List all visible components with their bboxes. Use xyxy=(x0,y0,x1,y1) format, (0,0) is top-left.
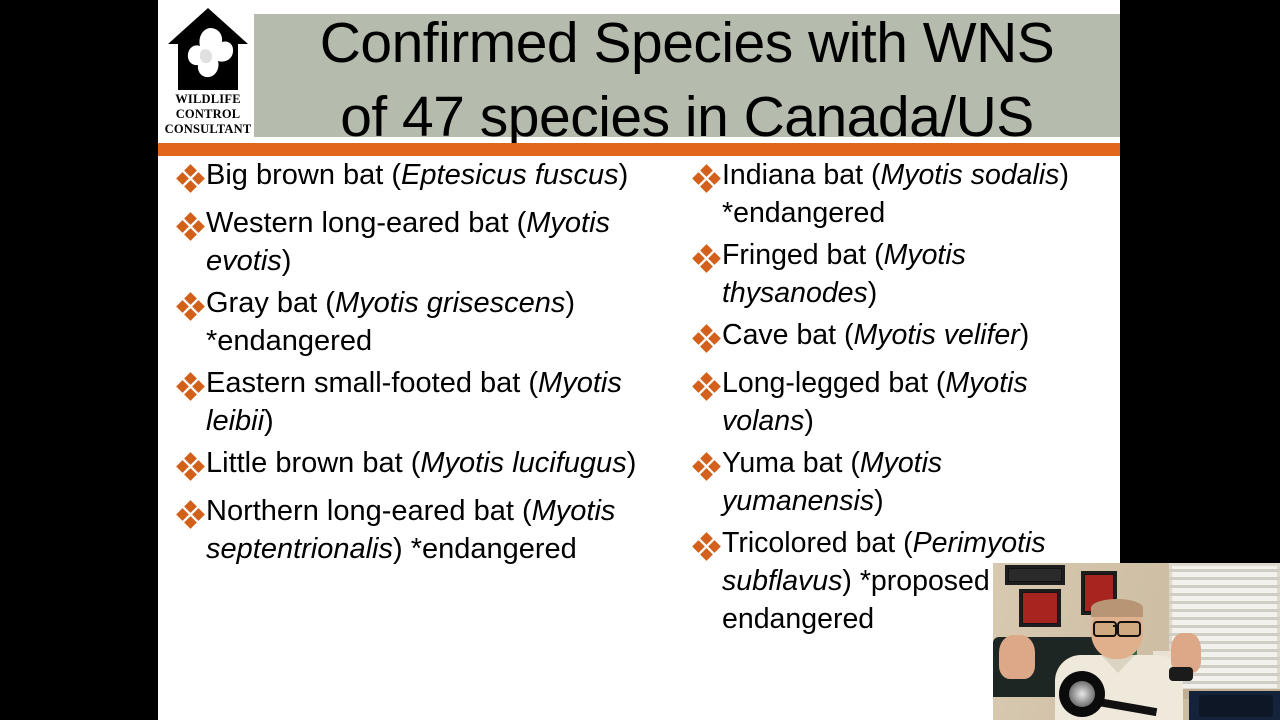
webcam-presenter-glasses xyxy=(1093,621,1117,637)
diamond-bullet-icon xyxy=(692,246,722,280)
slide-header: Confirmed Species with WNS of 47 species… xyxy=(158,0,1120,143)
letterbox-left xyxy=(0,0,158,720)
webcam-microphone-grille xyxy=(1069,681,1095,707)
species-entry: Western long-eared bat (Myotis evotis) xyxy=(206,204,660,280)
page-title: Confirmed Species with WNS of 47 species… xyxy=(254,6,1120,154)
webcam-equipment xyxy=(1199,695,1273,717)
slide-body: Big brown bat (Eptesicus fuscus) Western… xyxy=(158,156,1120,720)
diamond-bullet-icon xyxy=(692,534,722,568)
diamond-bullet-icon xyxy=(692,374,722,408)
presenter-webcam-overlay[interactable] xyxy=(993,563,1280,720)
list-item: Fringed bat (Myotis thysanodes) xyxy=(692,236,1104,312)
list-item: Northern long-eared bat (Myotis septentr… xyxy=(176,492,660,568)
presentation-stage: Confirmed Species with WNS of 47 species… xyxy=(0,0,1280,720)
webcam-presenter-hair xyxy=(1091,599,1143,617)
webcam-framed-picture xyxy=(1005,565,1065,585)
webcam-presenter-glasses xyxy=(1117,621,1141,637)
species-entry: Northern long-eared bat (Myotis septentr… xyxy=(206,492,660,568)
diamond-bullet-icon xyxy=(176,502,206,536)
list-item: Eastern small-footed bat (Myotis leibii) xyxy=(176,364,660,440)
species-entry: Fringed bat (Myotis thysanodes) xyxy=(722,236,1104,312)
species-entry: Eastern small-footed bat (Myotis leibii) xyxy=(206,364,660,440)
webcam-presenter-hand-left xyxy=(999,635,1035,679)
species-entry: Indiana bat (Myotis sodalis) *endangered xyxy=(722,156,1104,232)
diamond-bullet-icon xyxy=(692,454,722,488)
list-item: Long-legged bat (Myotis volans) xyxy=(692,364,1104,440)
species-entry: Little brown bat (Myotis lucifugus) xyxy=(206,444,660,482)
list-item: Cave bat (Myotis velifer) xyxy=(692,316,1104,360)
wildlife-control-consultant-logo: WILDLIFE CONTROL CONSULTANT xyxy=(162,4,254,143)
diamond-bullet-icon xyxy=(176,374,206,408)
list-item: Western long-eared bat (Myotis evotis) xyxy=(176,204,660,280)
diamond-bullet-icon xyxy=(692,166,722,200)
species-list-left: Big brown bat (Eptesicus fuscus) Western… xyxy=(176,156,660,572)
list-item: Yuma bat (Myotis yumanensis) xyxy=(692,444,1104,520)
slide-canvas: Confirmed Species with WNS of 47 species… xyxy=(158,0,1120,720)
webcam-presenter-watch xyxy=(1169,667,1193,681)
list-item: Big brown bat (Eptesicus fuscus) xyxy=(176,156,660,200)
webcam-framed-picture xyxy=(1019,589,1061,627)
species-entry: Gray bat (Myotis grisescens) *endangered xyxy=(206,284,660,360)
diamond-bullet-icon xyxy=(176,214,206,248)
diamond-bullet-icon xyxy=(692,326,722,360)
webcam-glasses-bridge xyxy=(1113,625,1119,627)
list-item: Gray bat (Myotis grisescens) *endangered xyxy=(176,284,660,360)
diamond-bullet-icon xyxy=(176,294,206,328)
logo-text: WILDLIFE CONTROL CONSULTANT xyxy=(162,92,254,137)
species-entry: Long-legged bat (Myotis volans) xyxy=(722,364,1104,440)
species-entry: Yuma bat (Myotis yumanensis) xyxy=(722,444,1104,520)
house-squirrel-icon xyxy=(166,6,250,92)
list-item: Indiana bat (Myotis sodalis) *endangered xyxy=(692,156,1104,232)
list-item: Little brown bat (Myotis lucifugus) xyxy=(176,444,660,488)
accent-rule xyxy=(158,143,1120,156)
diamond-bullet-icon xyxy=(176,454,206,488)
species-entry: Big brown bat (Eptesicus fuscus) xyxy=(206,156,660,194)
diamond-bullet-icon xyxy=(176,166,206,200)
species-entry: Cave bat (Myotis velifer) xyxy=(722,316,1104,354)
